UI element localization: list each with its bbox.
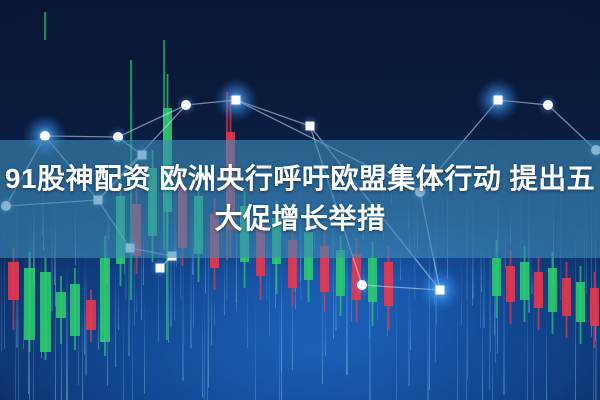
headline-line-1: 91股神配资 欧洲央行呼吁欧盟集体行动 提出五 bbox=[5, 159, 595, 199]
banner-image: 91股神配资 欧洲央行呼吁欧盟集体行动 提出五 大促增长举措 bbox=[0, 0, 600, 400]
headline-text: 91股神配资 欧洲央行呼吁欧盟集体行动 提出五 大促增长举措 bbox=[0, 140, 600, 258]
headline-line-2: 大促增长举措 bbox=[214, 199, 385, 239]
